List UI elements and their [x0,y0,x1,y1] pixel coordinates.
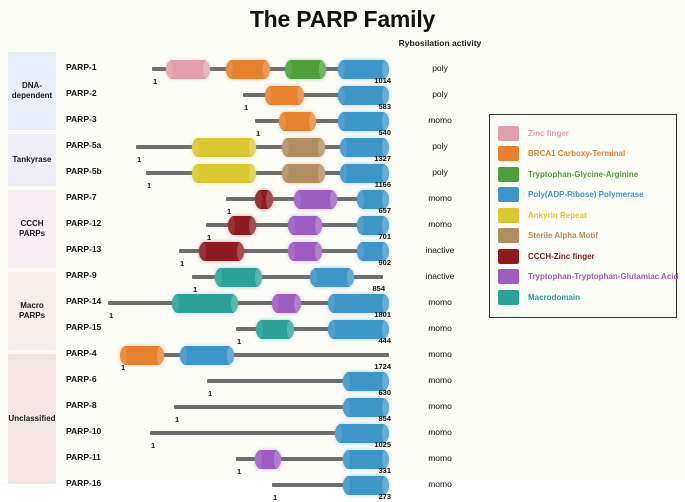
domain-cap-left [338,86,345,105]
domain-cap-right [315,242,322,261]
domain-cap-left [357,190,364,209]
domain-block [288,216,322,235]
domain-cap-left [343,476,350,495]
protein-name-parp-2: PARP-2 [66,88,97,98]
domain-block [310,268,354,287]
protein-name-parp-11: PARP-11 [66,452,101,462]
domain-cap-right [266,190,273,209]
domain-cap-right [249,138,256,157]
domain-block [192,164,256,183]
domain-block [215,268,262,287]
protein-row: PARP-161273momo [0,472,685,498]
domain-block [120,346,164,365]
domain-cap-left [199,242,206,261]
legend-color-swatch [498,269,519,284]
domain-block [199,242,244,261]
legend-color-swatch [498,187,519,202]
protein-name-parp-15: PARP-15 [66,322,101,332]
protein-name-parp-4: PARP-4 [66,348,97,358]
domain-cap-left [340,164,347,183]
domain-block [282,164,325,183]
domain-cap-left [357,216,364,235]
domain-block [265,86,304,105]
ribosylation-activity-value: momo [370,401,510,411]
ribosylation-activity-value: momo [370,375,510,385]
domain-cap-right [297,86,304,105]
domain-cap-left [343,398,350,417]
legend-item-label: BRCA1 Carboxy-Terminal [528,149,625,158]
domain-cap-right [318,164,325,183]
ribosylation-activity-value: momo [370,427,510,437]
domain-cap-right [309,112,316,131]
legend-color-swatch [498,228,519,243]
legend-color-swatch [498,290,519,305]
protein-name-parp-3: PARP-3 [66,114,97,124]
domain-cap-right [315,216,322,235]
domain-cap-left [340,138,347,157]
domain-cap-left [285,60,292,79]
residue-end-number: 273 [367,492,391,501]
domain-cap-left [288,216,295,235]
domain-block [255,450,281,469]
ribosylation-activity-value: momo [370,349,510,359]
domain-cap-left [256,320,263,339]
domain-cap-left [338,112,345,131]
domain-cap-right [263,60,270,79]
legend-item: Ankyrin Repeat [498,205,676,226]
domain-cap-left [282,138,289,157]
protein-row: PARP-21583poly [0,82,685,108]
domain-cap-left [343,372,350,391]
legend-item: Tryptophan-Glycine-Arginine [498,164,676,185]
domain-block [294,190,337,209]
domain-cap-left [226,60,233,79]
legend-item-label: Tryptophan-Tryptophan-Glutamiac Acid [528,272,678,281]
domain-block [166,60,210,79]
domain-cap-left [288,242,295,261]
protein-row: PARP-111014poly [0,56,685,82]
domain-cap-left [335,424,342,443]
protein-row: PARP-1011025momo [0,420,685,446]
legend-item: BRCA1 Carboxy-Terminal [498,144,676,165]
legend-color-swatch [498,167,519,182]
legend-item: Zinc finger [498,123,676,144]
domain-cap-right [318,138,325,157]
domain-cap-right [319,60,326,79]
protein-name-parp-5b: PARP-5b [66,166,102,176]
activity-column-header: Rybosilation activity [370,38,510,48]
domain-block [256,320,294,339]
legend-item: CCCH-Zinc finger [498,246,676,267]
domain-cap-right [203,60,210,79]
domain-cap-left [343,450,350,469]
domain-cap-left [328,294,335,313]
legend-color-swatch [498,146,519,161]
protein-name-parp-1: PARP-1 [66,62,97,72]
domain-block [272,294,301,313]
legend-color-swatch [498,208,519,223]
ribosylation-activity-value: momo [370,323,510,333]
domain-cap-left [192,138,199,157]
domain-block [228,216,256,235]
domain-cap-left [338,60,345,79]
domain-legend: Zinc fingerBRCA1 Carboxy-TerminalTryptop… [489,114,677,318]
domain-cap-left [228,216,235,235]
legend-item: Macrodomain [498,287,676,308]
protein-name-parp-12: PARP-12 [66,218,101,228]
ribosylation-activity-value: poly [370,63,510,73]
domain-cap-left [279,112,286,131]
domain-cap-left [255,190,262,209]
protein-row: PARP-151444momo [0,316,685,342]
legend-item: Poly(ADP-Ribose) Polymerase [498,185,676,206]
protein-name-parp-6: PARP-6 [66,374,97,384]
domain-cap-left [255,450,262,469]
domain-block [288,242,322,261]
domain-cap-left [282,164,289,183]
domain-cap-right [347,268,354,287]
protein-name-parp-8: PARP-8 [66,400,97,410]
domain-block [180,346,234,365]
domain-cap-right [255,268,262,287]
domain-cap-right [294,294,301,313]
protein-name-parp-13: PARP-13 [66,244,101,254]
legend-item-label: Sterile Alpha Motif [528,231,598,240]
legend-item-label: Ankyrin Repeat [528,211,587,220]
domain-cap-right [249,164,256,183]
domain-cap-left [328,320,335,339]
domain-cap-right [249,216,256,235]
residue-start-number: 1 [273,493,277,502]
domain-cap-right [157,346,164,365]
domain-cap-left [172,294,179,313]
ribosylation-activity-value: momo [370,479,510,489]
legend-item-label: Poly(ADP-Ribose) Polymerase [528,190,644,199]
domain-cap-right [227,346,234,365]
ribosylation-activity-value: momo [370,453,510,463]
figure-title: The PARP Family [0,6,685,33]
domain-block [255,190,273,209]
domain-block [192,138,256,157]
domain-cap-left [310,268,317,287]
domain-block [279,112,316,131]
domain-block [226,60,270,79]
protein-row: PARP-111331momo [0,446,685,472]
domain-block [285,60,326,79]
domain-cap-left [265,86,272,105]
protein-row: PARP-411724momo [0,342,685,368]
parp-family-figure: The PARP Family Rybosilation activity DN… [0,0,685,480]
domain-cap-right [274,450,281,469]
protein-name-parp-5a: PARP-5a [66,140,101,150]
legend-color-swatch [498,126,519,141]
legend-color-swatch [498,249,519,264]
protein-name-parp-10: PARP-10 [66,426,101,436]
domain-cap-left [166,60,173,79]
domain-block [282,138,325,157]
legend-item-label: Macrodomain [528,293,580,302]
legend-item-label: Zinc finger [528,129,569,138]
protein-name-parp-14: PARP-14 [66,296,101,306]
domain-cap-left [357,242,364,261]
domain-block [172,294,238,313]
domain-cap-left [272,294,279,313]
protein-row: PARP-81854momo [0,394,685,420]
domain-cap-right [231,294,238,313]
protein-name-parp-9: PARP-9 [66,270,97,280]
legend-item-label: Tryptophan-Glycine-Arginine [528,170,638,179]
ribosylation-activity-value: poly [370,89,510,99]
domain-cap-right [237,242,244,261]
protein-name-parp-7: PARP-7 [66,192,97,202]
protein-row: PARP-61630momo [0,368,685,394]
legend-item-label: CCCH-Zinc finger [528,252,595,261]
domain-cap-right [287,320,294,339]
domain-cap-left [192,164,199,183]
legend-item: Tryptophan-Tryptophan-Glutamiac Acid [498,267,676,288]
legend-item: Sterile Alpha Motif [498,226,676,247]
domain-cap-left [180,346,187,365]
domain-cap-right [330,190,337,209]
domain-cap-left [294,190,301,209]
domain-cap-left [215,268,222,287]
